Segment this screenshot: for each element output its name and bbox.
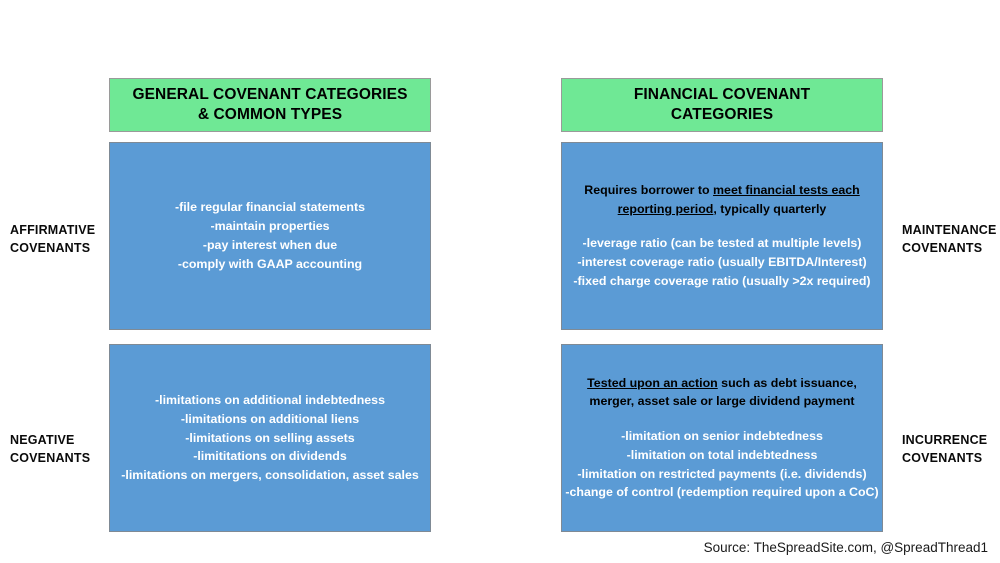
- list-item: -maintain properties: [175, 217, 365, 236]
- list-item: -limitation on restricted payments (i.e.…: [565, 465, 878, 484]
- list-item: -change of control (redemption required …: [565, 483, 878, 502]
- label-incurrence-covenants: INCURRENCE COVENANTS: [902, 431, 987, 467]
- list-item: -limitations on additional indebtedness: [121, 391, 418, 410]
- intro-prefix: Requires borrower to: [584, 183, 713, 197]
- list-item: -limitations on mergers, consolidation, …: [121, 466, 418, 485]
- list-item: -limitations on additional liens: [121, 410, 418, 429]
- column-financial-covenants: FINANCIAL COVENANT CATEGORIES Requires b…: [561, 78, 883, 532]
- label-affirmative-covenants: AFFIRMATIVE COVENANTS: [10, 221, 95, 257]
- box-maintenance-covenants: Requires borrower to meet financial test…: [561, 142, 883, 330]
- bullet-list-affirmative: -file regular financial statements -main…: [175, 198, 365, 273]
- list-item: -limitation on senior indebtedness: [565, 427, 878, 446]
- intro-suffix: , typically quarterly: [713, 202, 826, 216]
- list-item: -fixed charge coverage ratio (usually >2…: [573, 272, 870, 291]
- list-item: -file regular financial statements: [175, 198, 365, 217]
- header-general-covenant-categories: GENERAL COVENANT CATEGORIES & COMMON TYP…: [109, 78, 431, 132]
- label-negative-covenants: NEGATIVE COVENANTS: [10, 431, 90, 467]
- intro-underlined: Tested upon an action: [587, 376, 718, 390]
- list-item: -comply with GAAP accounting: [175, 255, 365, 274]
- list-item: -leverage ratio (can be tested at multip…: [573, 234, 870, 253]
- bullet-list-maintenance: -leverage ratio (can be tested at multip…: [573, 234, 870, 291]
- box-incurrence-covenants: Tested upon an action such as debt issua…: [561, 344, 883, 532]
- source-note: Source: TheSpreadSite.com, @SpreadThread…: [704, 540, 988, 555]
- list-item: -limititations on dividends: [121, 447, 418, 466]
- list-item: -pay interest when due: [175, 236, 365, 255]
- list-item: -interest coverage ratio (usually EBITDA…: [573, 253, 870, 272]
- list-item: -limitations on selling assets: [121, 429, 418, 448]
- label-maintenance-covenants: MAINTENANCE COVENANTS: [902, 221, 997, 257]
- column-general-covenants: GENERAL COVENANT CATEGORIES & COMMON TYP…: [109, 78, 431, 532]
- bullet-list-incurrence: -limitation on senior indebtedness -limi…: [565, 427, 878, 502]
- list-item: -limitation on total indebtedness: [565, 446, 878, 465]
- bullet-list-negative: -limitations on additional indebtedness …: [121, 391, 418, 485]
- box-negative-covenants: -limitations on additional indebtedness …: [109, 344, 431, 532]
- intro-incurrence: Tested upon an action such as debt issua…: [572, 374, 872, 411]
- intro-maintenance: Requires borrower to meet financial test…: [572, 181, 872, 218]
- box-affirmative-covenants: -file regular financial statements -main…: [109, 142, 431, 330]
- header-financial-covenant-categories: FINANCIAL COVENANT CATEGORIES: [561, 78, 883, 132]
